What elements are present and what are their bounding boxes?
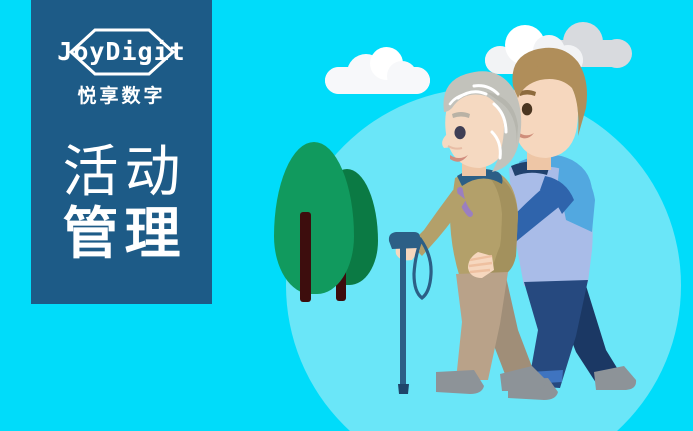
title-panel: JoyDigit 悦享数字 活动 管理 bbox=[31, 0, 212, 304]
logo-wordmark: JoyDigit bbox=[31, 37, 212, 66]
logo-hexagon-icon: JoyDigit bbox=[31, 28, 212, 76]
poster-canvas: JoyDigit 悦享数字 活动 管理 bbox=[0, 0, 693, 431]
logo-chinese-name: 悦享数字 bbox=[31, 81, 212, 108]
brand-logo: JoyDigit 悦享数字 bbox=[31, 28, 212, 108]
man-eye bbox=[522, 103, 532, 115]
woman-eye bbox=[454, 126, 465, 139]
cane-shaft bbox=[400, 246, 406, 391]
page-title: 活动 管理 bbox=[31, 142, 212, 266]
page-title-line2: 管理 bbox=[31, 204, 212, 266]
page-title-line1: 活动 bbox=[31, 142, 212, 204]
cane-tip bbox=[398, 384, 409, 394]
